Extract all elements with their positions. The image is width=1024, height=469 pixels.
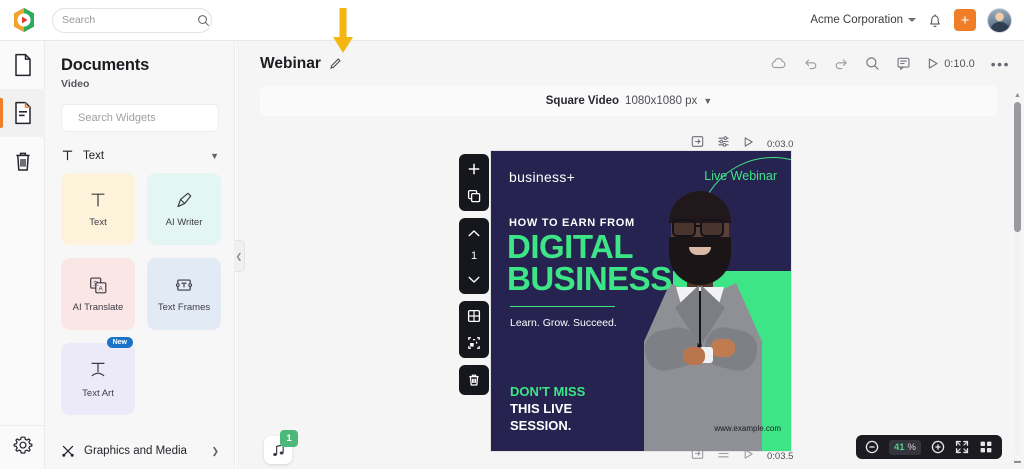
- chevron-down-icon[interactable]: ▼: [703, 96, 712, 106]
- play-icon: [927, 57, 939, 70]
- section-graphics-label: Graphics and Media: [84, 445, 202, 457]
- panel-collapse-handle[interactable]: ❮: [234, 240, 245, 272]
- document-title: Webinar: [260, 55, 321, 73]
- widget-tile-label: Text: [89, 217, 106, 228]
- translate-icon: 文 A: [88, 275, 108, 295]
- slide-page-number: 1: [471, 250, 477, 262]
- poster-headline-2: BUSINESS: [507, 263, 672, 294]
- search-icon[interactable]: [865, 56, 880, 71]
- user-avatar[interactable]: [987, 8, 1012, 33]
- zoom-out-icon[interactable]: [865, 440, 879, 454]
- widget-tiles: Text AI Writer 文 A AI Translate: [61, 173, 223, 415]
- bell-icon[interactable]: [927, 12, 943, 29]
- document-icon: [13, 101, 33, 125]
- poster-brand: business+: [509, 169, 575, 185]
- page-duration: 0:03.0: [767, 139, 793, 150]
- section-text[interactable]: Text ▼: [61, 149, 219, 162]
- left-rail: [0, 41, 45, 469]
- redo-icon[interactable]: [834, 57, 849, 70]
- zoom-controls: 41 %: [856, 435, 1002, 459]
- canvas-area: Square Video 1080x1080 px ▼: [236, 86, 1024, 469]
- zoom-level[interactable]: 41 %: [889, 440, 921, 455]
- sidebar-item-pages[interactable]: [0, 41, 45, 89]
- duplicate-icon[interactable]: [463, 186, 485, 206]
- poster-cta-3: SESSION.: [510, 418, 571, 433]
- chevron-up-icon[interactable]: [463, 223, 485, 243]
- poster-person-image: [639, 179, 791, 451]
- poster-live-webinar: Live Webinar: [704, 169, 777, 183]
- global-search[interactable]: [52, 8, 212, 33]
- editor-toolbar: 0:10.0 •••: [770, 56, 1010, 72]
- widget-tile-ai-translate[interactable]: 文 A AI Translate: [61, 258, 135, 330]
- app-logo-icon[interactable]: [10, 6, 38, 34]
- grid-icon[interactable]: [463, 306, 485, 326]
- pages-icon: [13, 53, 33, 77]
- plus-icon[interactable]: [463, 159, 485, 179]
- widget-tile-label: Text Frames: [158, 302, 210, 313]
- chevron-right-icon: ❯: [211, 446, 219, 457]
- canvas-size-name: Square Video: [546, 95, 619, 107]
- poster-headline-1: DIGITAL: [507, 231, 633, 262]
- org-name-label: Acme Corporation: [810, 14, 903, 26]
- grid-view-icon[interactable]: [979, 440, 993, 454]
- section-graphics-and-media[interactable]: Graphics and Media ❯: [61, 444, 219, 458]
- chevron-down-icon: [908, 18, 916, 22]
- widget-tile-text-frames[interactable]: Text Frames: [147, 258, 221, 330]
- select-all-icon[interactable]: [463, 333, 485, 353]
- scroll-down-arrow[interactable]: ▬: [1014, 458, 1021, 465]
- cloud-save-icon[interactable]: [770, 57, 787, 70]
- app-root: Acme Corporation +: [0, 0, 1024, 469]
- chevron-down-icon: ▼: [210, 151, 219, 161]
- sidebar-item-trash[interactable]: [0, 137, 45, 185]
- widget-tile-label: Text Art: [82, 388, 114, 399]
- total-duration: 0:10.0: [944, 58, 975, 70]
- settings-button[interactable]: [0, 425, 45, 463]
- trash-icon: [13, 150, 33, 173]
- zoom-level-value: 41: [894, 442, 905, 453]
- sidebar-item-document[interactable]: [0, 89, 45, 137]
- comment-icon[interactable]: [896, 56, 911, 71]
- zoom-in-icon[interactable]: [931, 440, 945, 454]
- text-frame-icon: [174, 275, 194, 295]
- slide-canvas-poster[interactable]: business+ Live Webinar HOW TO EARN FROM …: [491, 151, 791, 451]
- section-text-label: Text: [83, 150, 201, 162]
- scroll-up-arrow[interactable]: ▲: [1014, 92, 1021, 99]
- slide-tools-layout-group: [459, 301, 489, 358]
- top-bar: Acme Corporation +: [0, 0, 1024, 41]
- poster-live-prefix: Live: [704, 169, 730, 183]
- editor-header: Webinar: [236, 41, 1024, 86]
- create-new-button[interactable]: +: [954, 9, 976, 31]
- slide-tools: 1: [459, 154, 489, 402]
- widget-tile-label: AI Translate: [73, 302, 124, 313]
- text-t-icon: [61, 149, 74, 162]
- scrollbar-thumb[interactable]: [1014, 102, 1021, 232]
- poster-cta-2: THIS LIVE: [510, 401, 572, 416]
- canvas-size-dimensions: 1080x1080 px: [625, 95, 697, 107]
- canvas-scrollbar[interactable]: ▲ ▬: [1013, 92, 1022, 465]
- text-art-icon: [87, 359, 109, 381]
- new-badge: New: [107, 337, 133, 348]
- panel-subtitle: Video: [61, 78, 234, 90]
- gear-icon: [13, 435, 33, 455]
- trash-icon[interactable]: [463, 370, 485, 390]
- pen-nib-icon: [174, 190, 194, 210]
- preview-play-button[interactable]: 0:10.0: [927, 57, 975, 70]
- page-duration-next: 0:03.5: [767, 451, 793, 462]
- slide-tools-page-nav: 1: [459, 218, 489, 294]
- poster-tagline: Learn. Grow. Succeed.: [510, 317, 617, 329]
- widget-search[interactable]: [61, 104, 219, 132]
- slide-tools-add-group: [459, 154, 489, 211]
- audio-track-badge: 1: [280, 430, 298, 447]
- widget-tile-label: AI Writer: [166, 217, 203, 228]
- chevron-down-icon[interactable]: [463, 269, 485, 289]
- widget-panel: Documents Video Text ▼ Text: [45, 41, 235, 469]
- search-input[interactable]: [62, 14, 197, 26]
- page-title: Documents: [61, 56, 234, 75]
- graphics-media-icon: [61, 444, 75, 458]
- zoom-level-unit: %: [908, 442, 916, 453]
- canvas-size-bar[interactable]: Square Video 1080x1080 px ▼: [260, 86, 998, 116]
- widget-tile-text-art[interactable]: New Text Art: [61, 343, 135, 415]
- search-icon: [197, 14, 210, 27]
- undo-icon[interactable]: [803, 57, 818, 70]
- poster-divider: [510, 306, 615, 307]
- slide-tools-delete-group: [459, 365, 489, 395]
- poster-url: www.example.com: [714, 424, 781, 433]
- org-switcher[interactable]: Acme Corporation: [810, 14, 916, 26]
- widget-search-input[interactable]: [78, 112, 220, 124]
- fullscreen-icon[interactable]: [955, 440, 969, 454]
- poster-live-highlight: Webinar: [731, 169, 777, 183]
- top-bar-right: Acme Corporation +: [810, 8, 1012, 33]
- widget-tile-text[interactable]: Text: [61, 173, 135, 245]
- poster-cta-1: DON'T MISS: [510, 384, 585, 399]
- svg-text:A: A: [99, 286, 104, 293]
- widget-tile-ai-writer[interactable]: AI Writer: [147, 173, 221, 245]
- text-t-icon: [88, 190, 108, 210]
- more-options-icon[interactable]: •••: [991, 56, 1010, 72]
- pencil-icon[interactable]: [329, 57, 342, 70]
